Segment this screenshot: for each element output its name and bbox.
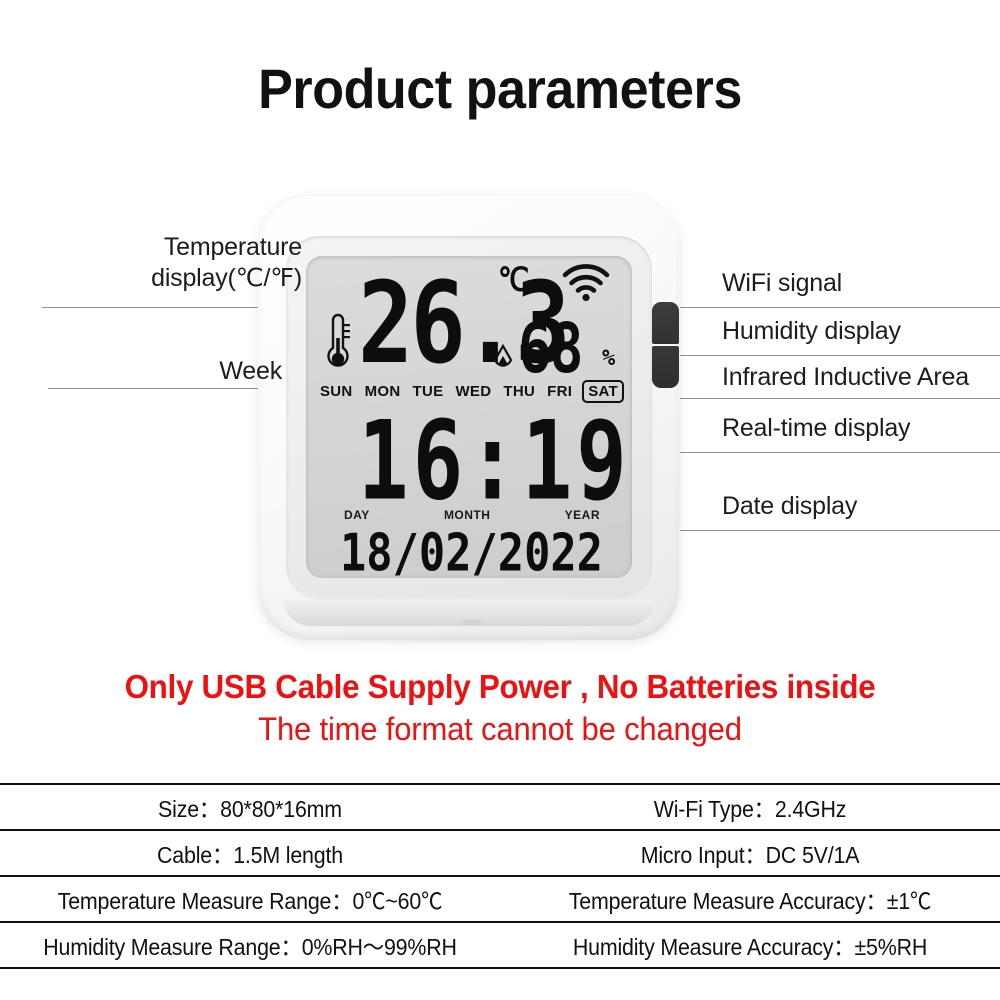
callout-dot-humidity-display bbox=[565, 350, 576, 361]
wifi-icon bbox=[562, 264, 610, 304]
time-value: 16:19 bbox=[358, 406, 631, 515]
callout-vline-infrared-inductive-area bbox=[664, 370, 665, 398]
warning-notice: Only USB Cable Supply Power , No Batteri… bbox=[0, 668, 1000, 748]
spec-cell-hum-range: Humidity Measure Range：0%RH～99%RH bbox=[18, 928, 483, 962]
weekday-mon: MON bbox=[363, 382, 403, 401]
thermometer-icon bbox=[322, 312, 352, 374]
temperature-value: 26.3 bbox=[358, 268, 568, 380]
date-label-day: DAY bbox=[344, 508, 370, 522]
weekday-tue: TUE bbox=[411, 382, 446, 401]
spec-cell-temp-accuracy: Temperature Measure Accuracy：±1℃ bbox=[518, 882, 983, 916]
date-label-year: YEAR bbox=[565, 508, 600, 522]
callout-line-date-display bbox=[606, 530, 1000, 531]
infrared-inductive-area-upper bbox=[652, 302, 679, 344]
spec-cell-micro-input: Micro Input：DC 5V/1A bbox=[518, 836, 983, 870]
spec-cell-wifi-type: Wi-Fi Type：2.4GHz bbox=[518, 790, 983, 824]
callout-label-temperature-display: Temperature display(℃/℉) bbox=[42, 232, 302, 293]
date-field-labels: DAY MONTH YEAR bbox=[344, 508, 600, 522]
callout-dot-wifi-signal bbox=[583, 302, 594, 313]
humidity-unit: % bbox=[602, 348, 615, 370]
spec-table: Size：80*80*16mm Wi-Fi Type：2.4GHz Cable：… bbox=[0, 783, 1000, 969]
callout-line-temperature-display bbox=[42, 307, 372, 308]
page-title: Product parameters bbox=[35, 56, 965, 121]
date-label-month: MONTH bbox=[444, 508, 491, 522]
table-row: Size：80*80*16mm Wi-Fi Type：2.4GHz bbox=[0, 783, 1000, 829]
weekday-row: SUN MON TUE WED THU FRI SAT bbox=[318, 380, 624, 403]
spec-cell-temp-range: Temperature Measure Range：0℃~60℃ bbox=[18, 882, 483, 916]
warning-notice-line2: The time format cannot be changed bbox=[15, 711, 985, 748]
warning-notice-line1: Only USB Cable Supply Power , No Batteri… bbox=[25, 668, 975, 706]
table-row: Temperature Measure Range：0℃~60℃ Tempera… bbox=[0, 875, 1000, 921]
weekday-wed: WED bbox=[453, 382, 493, 401]
callout-label-date-display: Date display bbox=[722, 492, 857, 521]
callout-line-infrared-inductive-area bbox=[664, 398, 1000, 399]
callout-label-week: Week bbox=[42, 357, 282, 386]
table-row: Humidity Measure Range：0%RH～99%RH Humidi… bbox=[0, 921, 1000, 969]
callout-label-temperature-display-line2: display(℃/℉) bbox=[42, 263, 302, 294]
callout-label-humidity-display: Humidity display bbox=[722, 317, 901, 346]
callout-label-week-text: Week bbox=[219, 357, 282, 385]
weekday-fri: FRI bbox=[545, 382, 574, 401]
callout-label-wifi-signal: WiFi signal bbox=[722, 269, 842, 298]
device-shadow bbox=[268, 600, 668, 644]
callout-dot-date-display bbox=[601, 525, 612, 536]
spec-cell-hum-accuracy: Humidity Measure Accuracy：±5%RH bbox=[518, 928, 983, 962]
callout-label-temperature-display-line1: Temperature bbox=[42, 232, 302, 263]
spec-cell-size: Size：80*80*16mm bbox=[18, 790, 483, 824]
date-value: 18/02/2022 bbox=[340, 528, 603, 579]
device-bezel bbox=[286, 236, 652, 600]
device-body bbox=[258, 196, 680, 640]
callout-line-week bbox=[48, 388, 338, 389]
callout-line-wifi-signal bbox=[588, 307, 1000, 308]
droplet-icon bbox=[492, 344, 514, 374]
table-row: Cable：1.5M length Micro Input：DC 5V/1A bbox=[0, 829, 1000, 875]
callout-line-real-time-display bbox=[592, 452, 1000, 453]
callout-label-infrared-inductive-area: Infrared Inductive Area bbox=[722, 363, 969, 392]
weekday-sun: SUN bbox=[318, 382, 355, 401]
spec-cell-cable: Cable：1.5M length bbox=[18, 836, 483, 870]
callout-dot-real-time-display bbox=[587, 447, 598, 458]
weekday-sat: SAT bbox=[582, 380, 624, 403]
temperature-unit: ℃ bbox=[498, 264, 529, 296]
weekday-thu: THU bbox=[501, 382, 537, 401]
device-base bbox=[284, 600, 654, 626]
callout-label-real-time-display: Real-time display bbox=[722, 414, 910, 443]
device-foot bbox=[462, 620, 482, 625]
callout-dot-temperature-display bbox=[361, 302, 372, 313]
callout-line-humidity-display bbox=[570, 355, 1000, 356]
